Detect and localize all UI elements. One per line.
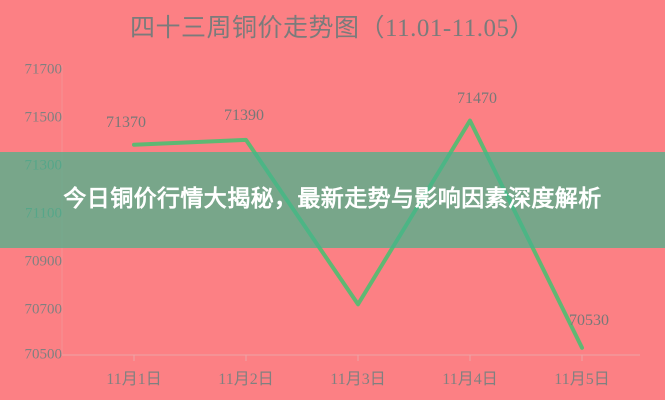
x-tick-label: 11月5日 <box>522 365 642 389</box>
data-point-label: 71390 <box>224 107 264 125</box>
y-tick-label: 71700 <box>4 62 62 79</box>
y-tick-label: 70900 <box>4 254 62 271</box>
chart-screenshot: 四十三周铜价走势图（11.01-11.05） 71700 71500 71300… <box>0 0 665 400</box>
headline-title: 今日铜价行情大揭秘，最新走势与影响因素深度解析 <box>44 183 621 216</box>
y-tick-label: 70500 <box>4 347 62 364</box>
y-tick-label: 71500 <box>4 110 62 127</box>
data-point-label: 70530 <box>569 312 609 330</box>
x-tick-label: 11月4日 <box>410 365 530 389</box>
x-tick-label: 11月2日 <box>186 365 306 389</box>
chart-title: 四十三周铜价走势图（11.01-11.05） <box>0 8 665 44</box>
y-tick-label: 70700 <box>4 302 62 319</box>
x-tick-label: 11月1日 <box>74 365 194 389</box>
x-tick-label: 11月3日 <box>298 365 418 389</box>
data-point-label: 71470 <box>457 90 497 108</box>
data-point-label: 71370 <box>106 114 146 132</box>
headline-overlay-band: 今日铜价行情大揭秘，最新走势与影响因素深度解析 <box>0 152 665 248</box>
